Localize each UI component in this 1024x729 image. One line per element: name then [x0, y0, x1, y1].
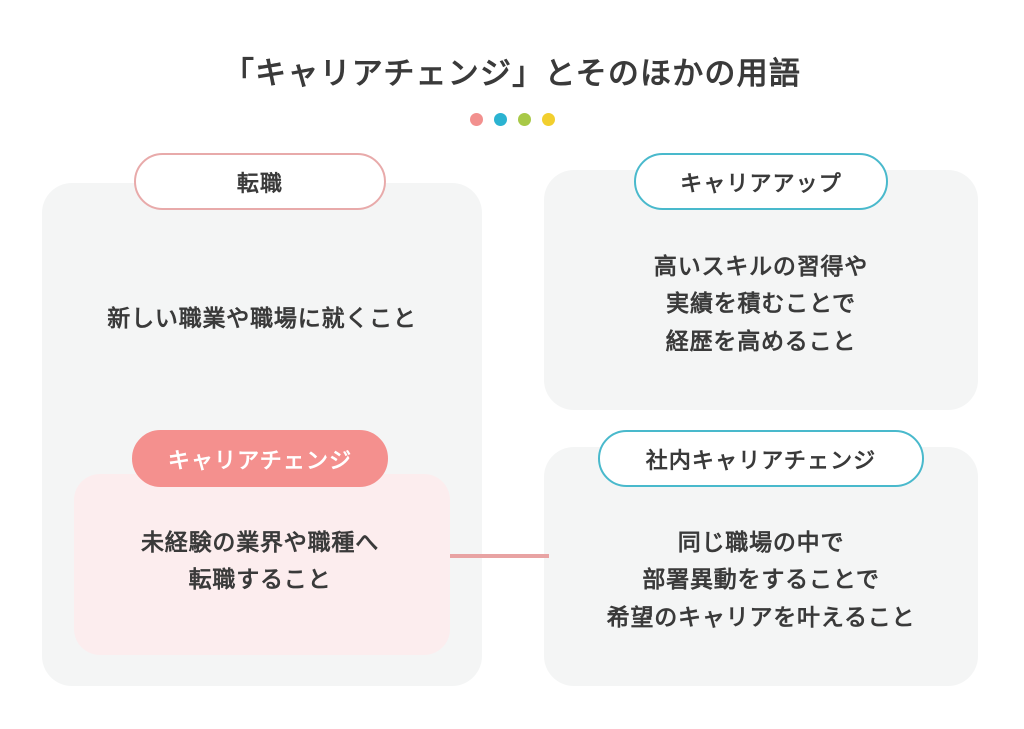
dot-green-icon	[518, 113, 531, 126]
description-line: 転職すること	[60, 561, 460, 598]
dot-salmon-icon	[470, 113, 483, 126]
description-career-change: 未経験の業界や職種へ 転職すること	[60, 524, 460, 599]
pill-career-up[interactable]: キャリアアップ	[634, 153, 888, 210]
description-line: 同じ職場の中で	[544, 524, 978, 561]
pill-tenshoku[interactable]: 転職	[134, 153, 386, 210]
dot-cyan-icon	[494, 113, 507, 126]
description-line: 実績を積むことで	[544, 285, 978, 322]
description-career-up: 高いスキルの習得や 実績を積むことで 経歴を高めること	[544, 248, 978, 360]
description-line: 経歴を高めること	[544, 323, 978, 360]
pill-internal-career-change[interactable]: 社内キャリアチェンジ	[598, 430, 924, 487]
career-change-to-internal-change-connector	[450, 554, 549, 558]
description-tenshoku: 新しい職業や職場に就くこと	[42, 300, 482, 337]
infographic-canvas: 「キャリアチェンジ」とそのほかの用語 転職 新しい職業や職場に就くこと キャリア…	[0, 0, 1024, 729]
description-line: 新しい職業や職場に就くこと	[42, 300, 482, 337]
pill-career-change[interactable]: キャリアチェンジ	[132, 430, 388, 487]
decorative-dots	[0, 113, 1024, 126]
dot-yellow-icon	[542, 113, 555, 126]
description-line: 未経験の業界や職種へ	[60, 524, 460, 561]
description-internal-career-change: 同じ職場の中で 部署異動をすることで 希望のキャリアを叶えること	[544, 524, 978, 636]
description-line: 部署異動をすることで	[544, 561, 978, 598]
page-title: 「キャリアチェンジ」とそのほかの用語	[0, 48, 1024, 93]
description-line: 希望のキャリアを叶えること	[544, 599, 978, 636]
description-line: 高いスキルの習得や	[544, 248, 978, 285]
